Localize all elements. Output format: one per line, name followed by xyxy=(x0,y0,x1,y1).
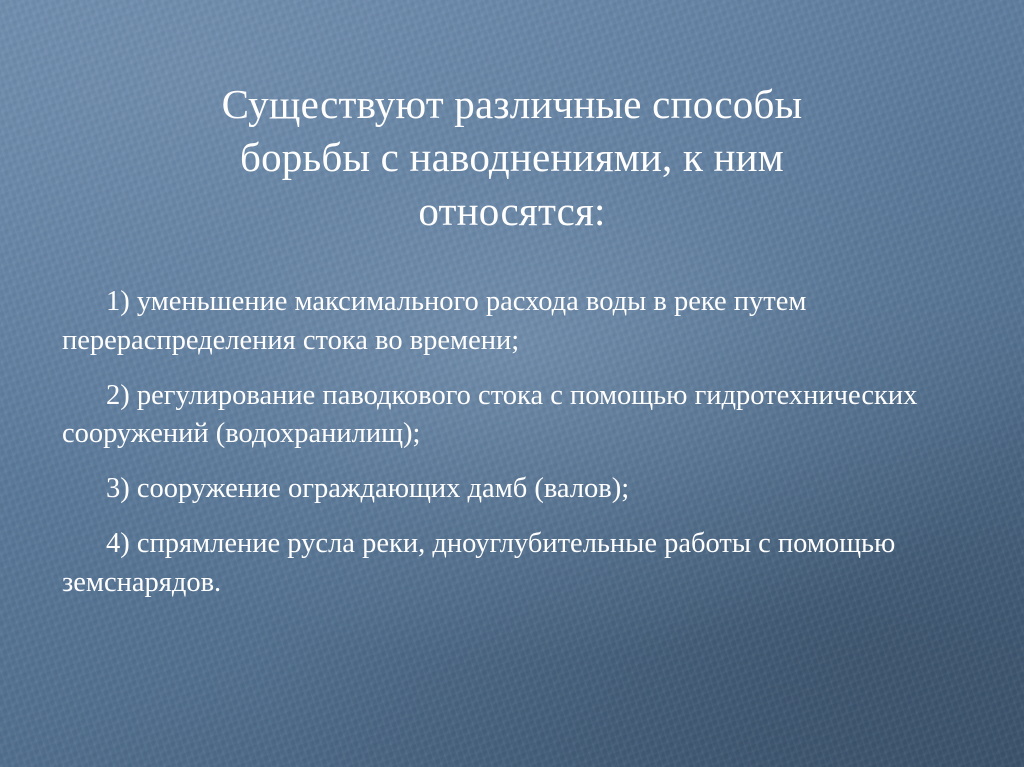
body-paragraph-1: 1) уменьшение максимального расхода воды… xyxy=(62,283,964,361)
slide-content: Существуют различные способы борьбы с на… xyxy=(0,0,1024,767)
body-paragraph-3: 3) сооружение ограждающих дамб (валов); xyxy=(62,470,964,509)
slide-canvas: Существуют различные способы борьбы с на… xyxy=(0,0,1024,767)
body-paragraph-2: 2) регулирование паводкового стока с пом… xyxy=(62,377,964,455)
slide-body: 1) уменьшение максимального расхода воды… xyxy=(62,283,964,602)
slide-title: Существуют различные способы борьбы с на… xyxy=(62,78,962,238)
title-line-1: Существуют различные способы xyxy=(62,78,962,131)
title-line-3: относятся: xyxy=(62,185,962,238)
body-paragraph-4: 4) спрямление русла реки, дноуглубительн… xyxy=(62,525,964,603)
title-line-2: борьбы с наводнениями, к ним xyxy=(62,131,962,184)
